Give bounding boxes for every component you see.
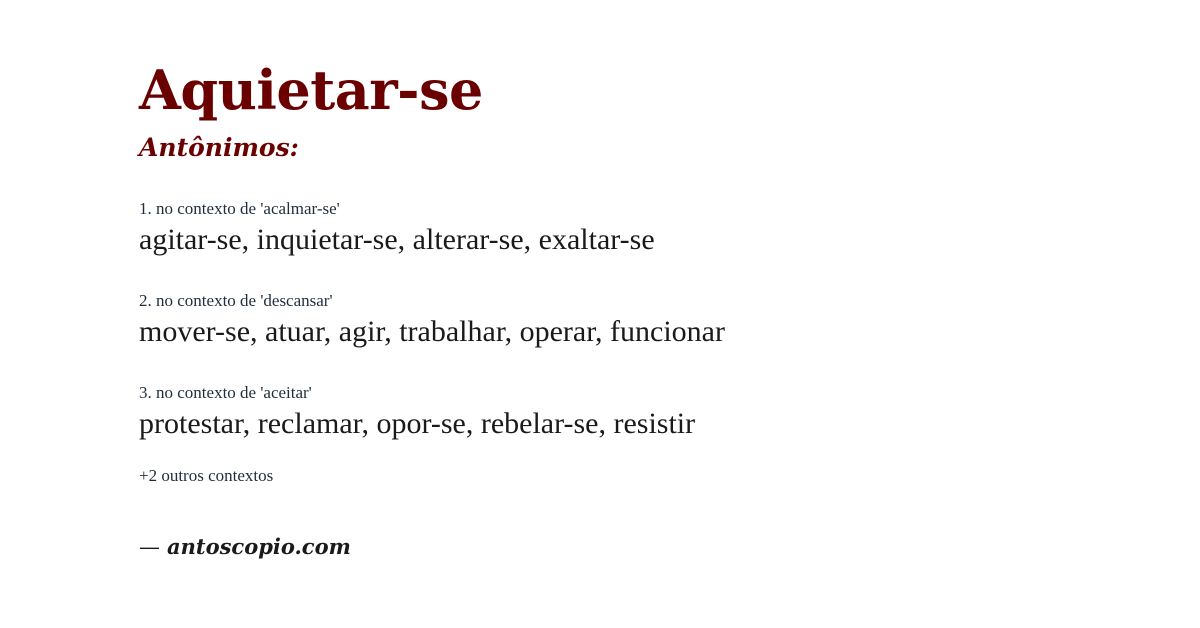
sense-context-label: 3. no contexto de 'aceitar'	[139, 382, 1139, 403]
source-attribution: —antoscopio.com	[139, 534, 351, 560]
sense-context-label: 1. no contexto de 'acalmar-se'	[139, 198, 1139, 219]
sense-antonyms: mover-se, atuar, agir, trabalhar, operar…	[139, 314, 1139, 351]
em-dash-icon: —	[139, 535, 160, 559]
sense-list: 1. no contexto de 'acalmar-se' agitar-se…	[139, 198, 1139, 443]
source-name: antoscopio.com	[167, 534, 351, 559]
section-subtitle-antonyms: Antônimos:	[139, 134, 299, 162]
more-contexts-note: +2 outros contextos	[139, 465, 273, 486]
antonyms-card: Aquietar-se Antônimos: 1. no contexto de…	[0, 0, 1200, 628]
sense-context-label: 2. no contexto de 'descansar'	[139, 290, 1139, 311]
sense-antonyms: protestar, reclamar, opor-se, rebelar-se…	[139, 406, 1139, 443]
sense-block: 2. no contexto de 'descansar' mover-se, …	[139, 290, 1139, 351]
sense-antonyms: agitar-se, inquietar-se, alterar-se, exa…	[139, 222, 1139, 259]
sense-block: 3. no contexto de 'aceitar' protestar, r…	[139, 382, 1139, 443]
page-title: Aquietar-se	[139, 62, 483, 119]
sense-block: 1. no contexto de 'acalmar-se' agitar-se…	[139, 198, 1139, 259]
